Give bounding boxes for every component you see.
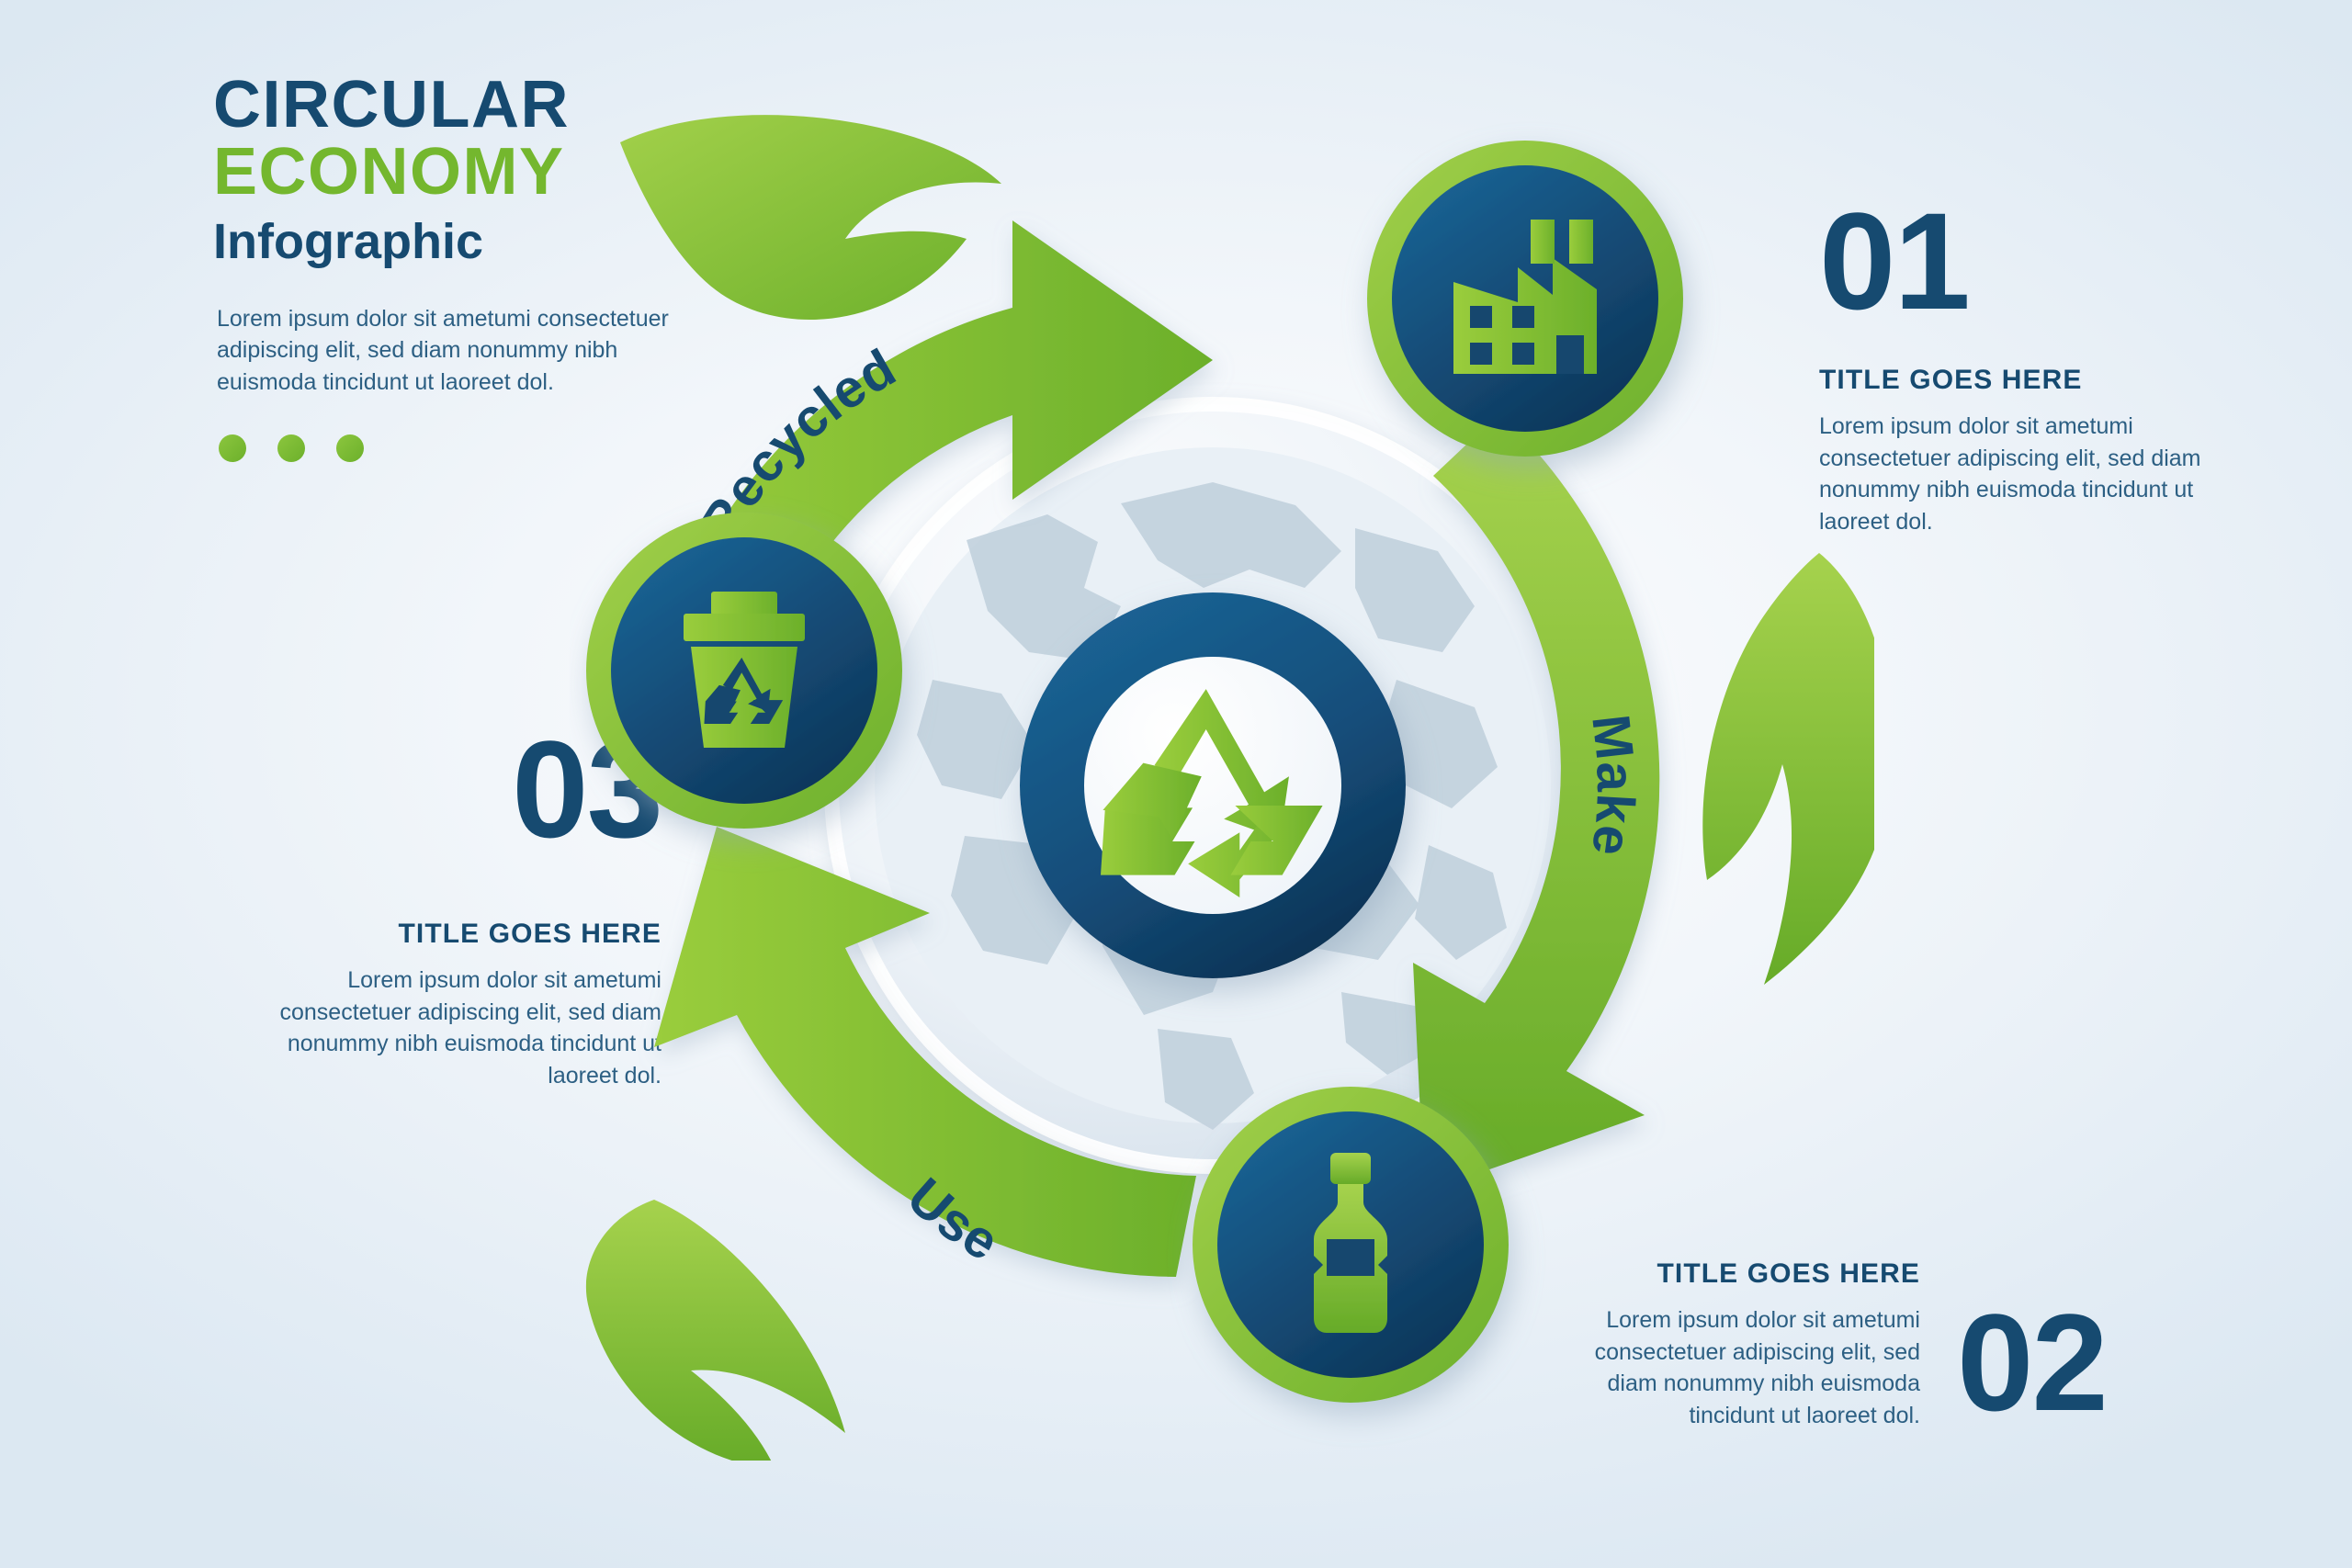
leaf-icon-bottom-left [586, 1200, 845, 1461]
dot-3 [336, 434, 364, 462]
leaf-icon-top-left [620, 115, 1001, 320]
node-bottle[interactable] [1193, 1087, 1509, 1403]
step-text-01: Lorem ipsum dolor sit ametumi consectetu… [1819, 411, 2205, 537]
circular-economy-diagram: Recycled Make Use [570, 110, 1874, 1461]
infographic-canvas: CIRCULAR ECONOMY Infographic Lorem ipsum… [0, 0, 2352, 1568]
dot-2 [277, 434, 305, 462]
node-factory[interactable] [1367, 141, 1683, 457]
step-number-02: 02 [1957, 1299, 2107, 1426]
center-node[interactable] [1020, 592, 1406, 978]
arrow-label-make: Make [1580, 712, 1645, 860]
step-block-01: 01 TITLE GOES HERE Lorem ipsum dolor sit… [1819, 197, 2205, 537]
node-recycle-bin[interactable] [586, 513, 902, 829]
step-number-01: 01 [1819, 197, 2205, 324]
step-title-01: TITLE GOES HERE [1819, 365, 2205, 396]
leaf-icon-right [1702, 553, 1874, 985]
recycle-bin-icon [684, 592, 805, 748]
dot-1 [219, 434, 246, 462]
